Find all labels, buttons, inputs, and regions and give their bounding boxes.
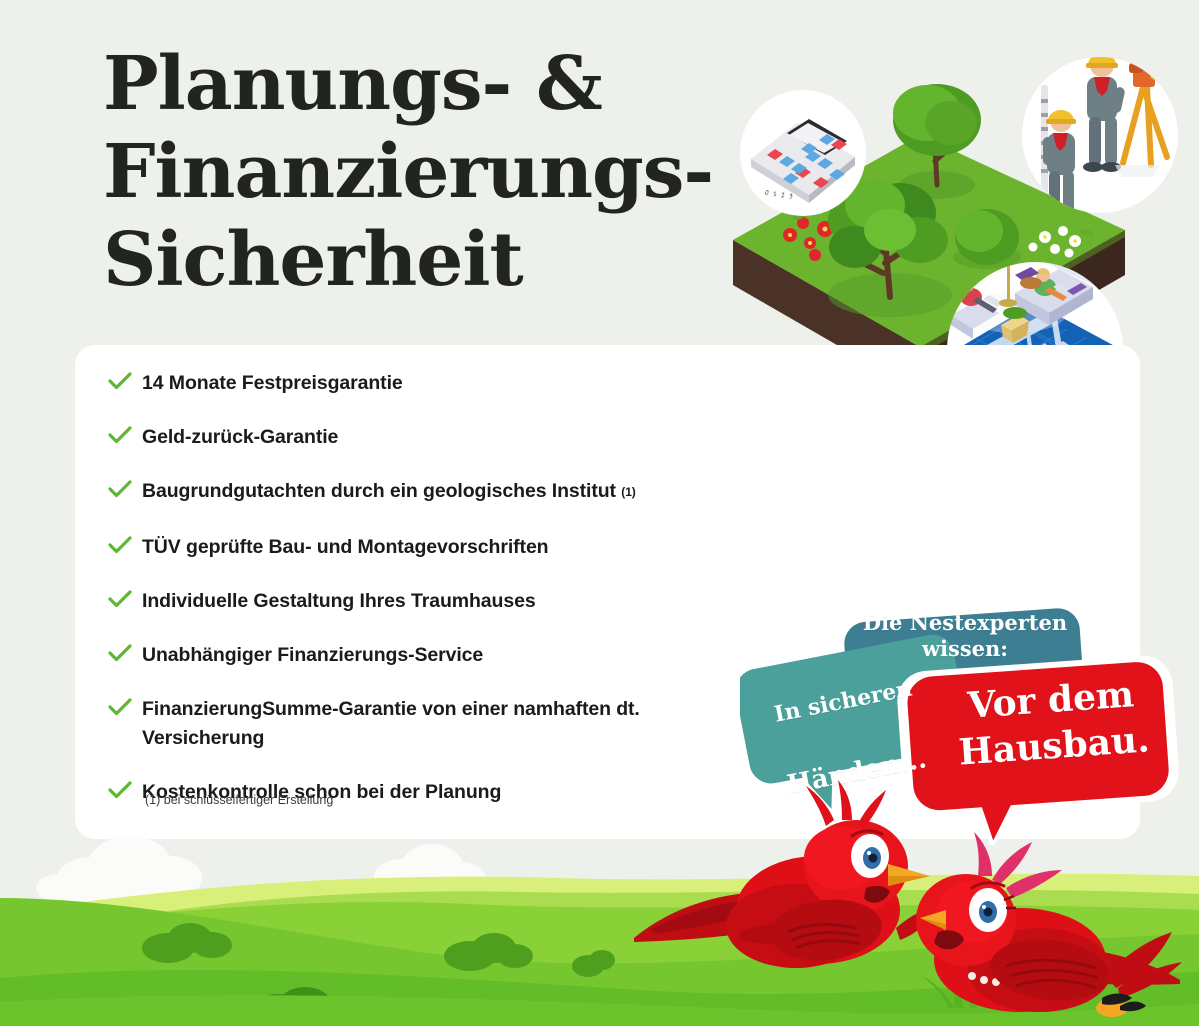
footnote-marker: (1) — [621, 485, 635, 499]
bird-right — [916, 832, 1182, 1017]
bird-left — [634, 780, 938, 968]
infographic-root: Planungs- & Finanzierungs- Sicherheit — [0, 0, 1199, 1026]
surveyor-circle — [1022, 53, 1178, 215]
bubble-before-build-text: Vor dem Hausbau. — [942, 670, 1163, 777]
calculator-circle: 01 23 — [740, 90, 866, 216]
list-item-label: TÜV geprüfte Bau- und Montagevorschrifte… — [142, 533, 549, 562]
list-item-label: Geld-zurück-Garantie — [142, 423, 338, 452]
check-icon — [108, 477, 142, 504]
bubble-safe-hands-line1: In sicheren — [742, 665, 945, 739]
check-icon — [108, 778, 142, 805]
list-item: TÜV geprüfte Bau- und Montagevorschrifte… — [108, 533, 748, 562]
list-item: Baugrundgutachten durch ein geologisches… — [108, 477, 748, 508]
list-item-label: Baugrundgutachten durch ein geologisches… — [142, 477, 636, 508]
list-item-label: FinanzierungSumme-Garantie von einer nam… — [142, 695, 668, 753]
list-item: Unabhängiger Finanzierungs-Service — [108, 641, 748, 670]
bird-mascots — [620, 780, 1199, 1026]
list-item-label: Unabhängiger Finanzierungs-Service — [142, 641, 483, 670]
checklist: 14 Monate Festpreisgarantie Geld-zurück-… — [108, 369, 748, 832]
check-icon — [108, 533, 142, 560]
footnote: (1) bei schlüsselfertiger Erstellung — [145, 793, 333, 807]
check-icon — [108, 423, 142, 450]
list-item: Geld-zurück-Garantie — [108, 423, 748, 452]
list-item-label: 14 Monate Festpreisgarantie — [142, 369, 403, 398]
check-icon — [108, 369, 142, 396]
tree-back — [893, 84, 981, 199]
check-icon — [108, 587, 142, 614]
list-item: FinanzierungSumme-Garantie von einer nam… — [108, 695, 668, 753]
list-item-label: Individuelle Gestaltung Ihres Traumhause… — [142, 587, 536, 616]
list-item: Individuelle Gestaltung Ihres Traumhause… — [108, 587, 748, 616]
check-icon — [108, 641, 142, 668]
check-icon — [108, 695, 142, 722]
page-title: Planungs- & Finanzierungs- Sicherheit — [103, 40, 763, 304]
list-item: 14 Monate Festpreisgarantie — [108, 369, 748, 398]
